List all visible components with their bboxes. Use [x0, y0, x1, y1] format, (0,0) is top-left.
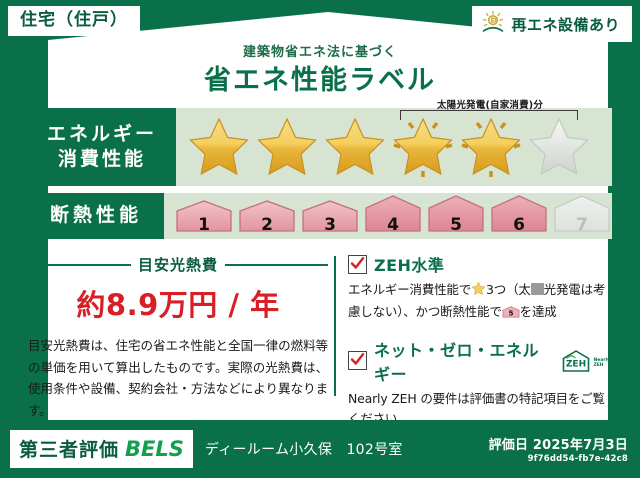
renewable-badge-label: 再エネ設備あり	[511, 14, 620, 35]
insulation-level-7: 7	[552, 194, 612, 238]
cost-note: 目安光熱費は、住宅の省エネ性能と全国一律の燃料等の単価を用いて算出したものです。…	[28, 335, 328, 421]
zeh-standard-block: ZEH水準 エネルギー消費性能で3つ（太光発電は考慮しない）、かつ断熱性能で5を…	[348, 252, 610, 326]
net-zero-title: ネット・ゼロ・エネルギー	[374, 337, 554, 385]
insulation-level-5-num: 5	[426, 215, 486, 235]
cost-section: 目安光熱費 約8.9万円 / 年 目安光熱費は、住宅の省エネ性能と全国一律の燃料…	[28, 250, 328, 408]
cost-rule-left	[28, 264, 131, 266]
energy-performance-value: 太陽光発電(自家消費)分	[176, 108, 612, 186]
star-filled-3	[322, 115, 388, 179]
energy-performance-label-key: エネルギー 消費性能	[28, 108, 176, 186]
cost-heading-label: 目安光熱費	[138, 254, 218, 275]
evaluation-meta: 評価日 2025年7月3日 9f76dd54-fb7e-42c8	[489, 434, 628, 464]
insulation-level-5: 5	[426, 194, 486, 238]
insulation-level-1-num: 1	[174, 215, 234, 235]
insulation-performance-value: 1 2 3	[164, 193, 612, 239]
inline-star-icon	[471, 281, 486, 302]
insulation-level-3-num: 3	[300, 215, 360, 235]
zeh-logo-sub2: ZEH	[593, 364, 610, 369]
star-filled-solar-4	[390, 115, 456, 179]
category-tag: 住宅（住戸）	[8, 6, 140, 36]
third-party-eval-label: 第三者評価	[19, 435, 119, 462]
evaluation-date: 評価日 2025年7月3日	[489, 434, 628, 453]
star-filled-1	[186, 115, 252, 179]
insulation-level-7-num: 7	[552, 215, 612, 235]
zeh-body-part1: エネルギー消費性能で	[348, 282, 471, 297]
zeh-house-logo-icon: ZEH Nearly ZEH	[561, 349, 610, 373]
cost-rule-right	[225, 264, 328, 266]
insulation-level-6-num: 6	[489, 215, 549, 235]
cost-amount: 約8.9万円 / 年	[28, 282, 328, 324]
solar-annotation-label: 太陽光発電(自家消費)分	[398, 97, 582, 111]
zeh-standard-body: エネルギー消費性能で3つ（太光発電は考慮しない）、かつ断熱性能で5を達成	[348, 280, 610, 326]
star-filled-solar-5	[458, 115, 524, 179]
svg-text:5: 5	[508, 309, 513, 318]
svg-text:ZEH: ZEH	[566, 359, 586, 369]
inline-insulation-level-badge: 5	[502, 305, 520, 325]
insulation-level-6: 6	[489, 194, 549, 238]
net-zero-block: ネット・ゼロ・エネルギー ZEH Nearly ZEH Nearly ZE	[348, 337, 610, 430]
page-title: 省エネ性能ラベル	[0, 58, 640, 97]
zeh-standard-checkbox[interactable]	[348, 255, 367, 274]
energy-performance-label: 住宅（住戸） 再エネ設備あり 建築物省エネ法に基づく 省エネ性能	[0, 0, 640, 478]
sun-energy-icon	[480, 10, 506, 38]
footer-bar: 第三者評価 BELS ディールーム小久保 102号室 評価日 2025年7月3日…	[0, 420, 640, 478]
section-divider	[334, 256, 336, 396]
insulation-performance-label-key: 断熱性能	[28, 193, 164, 239]
energy-performance-row: エネルギー 消費性能 太陽光発電(自家消費)分	[28, 108, 612, 186]
insulation-level-2: 2	[237, 198, 297, 238]
star-empty-6	[526, 115, 592, 179]
building-name: ディールーム小久保 102号室	[205, 439, 403, 459]
net-zero-checkbox[interactable]	[348, 351, 367, 370]
redacted-character	[531, 283, 544, 295]
bels-certification-tag: 第三者評価 BELS	[10, 430, 193, 468]
insulation-level-3: 3	[300, 198, 360, 238]
cost-heading: 目安光熱費	[28, 254, 328, 275]
zeh-section: ZEH水準 エネルギー消費性能で3つ（太光発電は考慮しない）、かつ断熱性能で5を…	[348, 250, 610, 408]
document-id: 9f76dd54-fb7e-42c8	[489, 454, 628, 464]
lower-content: 目安光熱費 約8.9万円 / 年 目安光熱費は、住宅の省エネ性能と全国一律の燃料…	[28, 250, 612, 408]
renewable-energy-badge: 再エネ設備あり	[472, 6, 632, 42]
rating-rows: エネルギー 消費性能 太陽光発電(自家消費)分	[28, 108, 612, 246]
star-filled-2	[254, 115, 320, 179]
insulation-level-1: 1	[174, 198, 234, 238]
zeh-body-part4: を達成	[520, 304, 557, 319]
energy-key-line2: 消費性能	[58, 147, 146, 172]
insulation-level-4: 4	[363, 194, 423, 238]
star-rating	[176, 115, 592, 179]
insulation-level-4-num: 4	[363, 215, 423, 235]
insulation-level-scale: 1 2 3	[164, 194, 612, 238]
zeh-body-part2: 3つ（太	[486, 282, 531, 297]
insulation-level-2-num: 2	[237, 215, 297, 235]
bels-logo-text: BELS	[125, 437, 184, 461]
zeh-standard-heading: ZEH水準	[348, 252, 610, 276]
energy-key-line1: エネルギー	[47, 122, 157, 147]
net-zero-heading: ネット・ゼロ・エネルギー ZEH Nearly ZEH	[348, 337, 610, 385]
insulation-performance-row: 断熱性能 1	[28, 193, 612, 239]
zeh-standard-title: ZEH水準	[374, 252, 444, 276]
